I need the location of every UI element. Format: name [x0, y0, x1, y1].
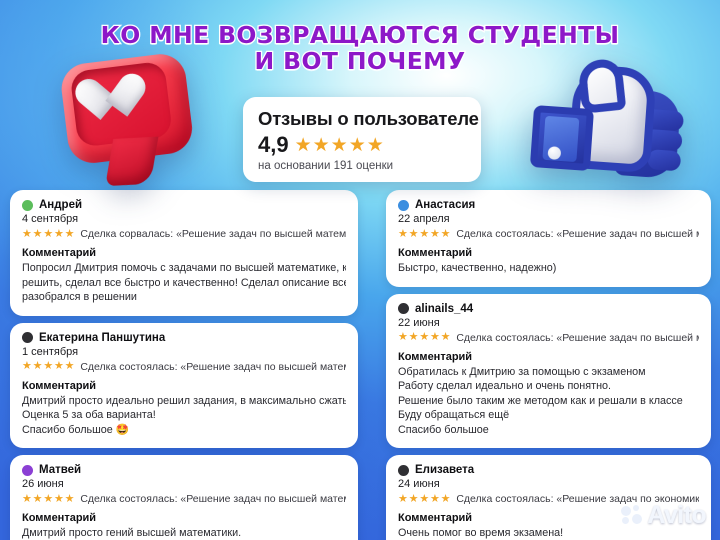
avito-dots-logo-icon	[621, 505, 642, 526]
comment-line: Дмитрий просто идеально решил задания, в…	[22, 394, 346, 409]
comment-body: Попросил Дмитрия помочь с задачами по вы…	[22, 261, 346, 305]
review-date: 26 июня	[22, 478, 346, 490]
comment-label: Комментарий	[22, 512, 346, 524]
avatar	[22, 465, 33, 476]
comment-line: Работу сделал идеально и очень понятно.	[398, 379, 699, 394]
avatar	[22, 332, 33, 343]
poster-canvas: КО МНЕ ВОЗВРАЩАЮТСЯ СТУДЕНТЫ И ВОТ ПОЧЕМ…	[0, 0, 720, 540]
avatar	[398, 465, 409, 476]
avatar	[22, 200, 33, 211]
comment-label: Комментарий	[22, 380, 346, 392]
comment-body: Обратилась к Дмитрию за помощью с экзаме…	[398, 365, 699, 438]
review-card: Матвей26 июня★★★★★Сделка состоялась: «Ре…	[10, 455, 358, 540]
review-rating-row: ★★★★★Сделка состоялась: «Решение задач п…	[22, 361, 346, 373]
rating-value: 4,9	[258, 134, 289, 156]
review-stars: ★★★★★	[22, 229, 75, 240]
review-rating-row: ★★★★★Сделка состоялась: «Решение задач п…	[398, 332, 699, 344]
comment-label: Комментарий	[398, 247, 699, 259]
review-date: 24 июня	[398, 478, 699, 490]
review-deal-status: Сделка состоялась: «Решение задач по выс…	[456, 332, 699, 344]
comment-line: Буду обращаться ещё	[398, 408, 699, 423]
heart-icon	[96, 74, 148, 123]
comment-body: Быстро, качественно, надежно)	[398, 261, 699, 276]
reviewer-name: Елизавета	[415, 464, 474, 476]
reviewer-name: Анастасия	[415, 199, 475, 211]
review-date: 22 июня	[398, 317, 699, 329]
avatar	[398, 200, 409, 211]
reviewer-name: Матвей	[39, 464, 81, 476]
review-deal-status: Сделка сорвалась: «Решение задач по высш…	[80, 228, 346, 240]
review-rating-row: ★★★★★Сделка состоялась: «Решение задач п…	[22, 493, 346, 505]
review-date: 22 апреля	[398, 213, 699, 225]
review-rating-row: ★★★★★Сделка сорвалась: «Решение задач по…	[22, 228, 346, 240]
comment-label: Комментарий	[398, 351, 699, 363]
avito-wordmark: Avito	[647, 503, 706, 528]
review-header: Екатерина Паншутина	[22, 332, 346, 344]
review-header: Андрей	[22, 199, 346, 211]
comment-line: разобрался в решении	[22, 290, 346, 305]
comment-line: Оценка 5 за оба варианта!	[22, 408, 346, 423]
comment-line: Быстро, качественно, надежно)	[398, 261, 699, 276]
rating-row: 4,9 ★★★★★	[258, 134, 467, 156]
review-rating-row: ★★★★★Сделка состоялась: «Решение задач п…	[398, 228, 699, 240]
rating-basis: на основании 191 оценки	[258, 160, 467, 172]
comment-line: Дмитрий просто гений высшей математики.	[22, 526, 346, 540]
comment-line: Попросил Дмитрия помочь с задачами по вы…	[22, 261, 346, 276]
review-card: Анастасия22 апреля★★★★★Сделка состоялась…	[386, 190, 711, 287]
review-header: alinails_44	[398, 303, 699, 315]
avito-watermark: Avito	[621, 503, 706, 528]
comment-label: Комментарий	[22, 247, 346, 259]
comment-line: Спасибо большое	[398, 423, 699, 438]
bubble-tail-shape	[105, 137, 158, 187]
review-header: Елизавета	[398, 464, 699, 476]
review-card: Андрей4 сентября★★★★★Сделка сорвалась: «…	[10, 190, 358, 316]
page-title: КО МНЕ ВОЗВРАЩАЮТСЯ СТУДЕНТЫ И ВОТ ПОЧЕМ…	[0, 22, 720, 74]
review-stars: ★★★★★	[22, 494, 75, 505]
rating-title: Отзывы о пользователе	[258, 108, 467, 130]
reviewer-name: Андрей	[39, 199, 82, 211]
reviews-column-right: Анастасия22 апреля★★★★★Сделка состоялась…	[386, 190, 711, 540]
review-stars: ★★★★★	[22, 361, 75, 372]
title-line-2: И ВОТ ПОЧЕМУ	[0, 48, 720, 74]
review-date: 1 сентября	[22, 346, 346, 358]
reviews-column-left: Андрей4 сентября★★★★★Сделка сорвалась: «…	[10, 190, 358, 540]
avatar	[398, 303, 409, 314]
review-date: 4 сентября	[22, 213, 346, 225]
comment-line: Спасибо большое 🤩	[22, 423, 346, 438]
title-line-1: КО МНЕ ВОЗВРАЩАЮТСЯ СТУДЕНТЫ	[0, 22, 720, 48]
review-stars: ★★★★★	[398, 229, 451, 240]
review-stars: ★★★★★	[398, 494, 451, 505]
reviewer-name: Екатерина Паншутина	[39, 332, 165, 344]
review-card: alinails_4422 июня★★★★★Сделка состоялась…	[386, 294, 711, 449]
reviewer-name: alinails_44	[415, 303, 473, 315]
rating-stars: ★★★★★	[295, 136, 385, 155]
comment-line: Решение было таким же методом как и реша…	[398, 394, 699, 409]
review-stars: ★★★★★	[398, 332, 451, 343]
review-card: Екатерина Паншутина1 сентября★★★★★Сделка…	[10, 323, 358, 449]
thumb-finger-3	[647, 149, 681, 171]
comment-line: Обратилась к Дмитрию за помощью с экзаме…	[398, 365, 699, 380]
comment-body: Дмитрий просто идеально решил задания, в…	[22, 394, 346, 438]
comment-body: Дмитрий просто гений высшей математики.Р…	[22, 526, 346, 540]
review-header: Матвей	[22, 464, 346, 476]
review-deal-status: Сделка состоялась: «Решение задач по выс…	[80, 361, 346, 373]
review-deal-status: Сделка состоялась: «Решение задач по выс…	[456, 228, 699, 240]
rating-card: Отзывы о пользователе 4,9 ★★★★★ на основ…	[243, 97, 481, 182]
review-header: Анастасия	[398, 199, 699, 211]
review-deal-status: Сделка состоялась: «Решение задач по выс…	[80, 493, 346, 505]
comment-line: решить, сделал все быстро и качественно!…	[22, 276, 346, 291]
